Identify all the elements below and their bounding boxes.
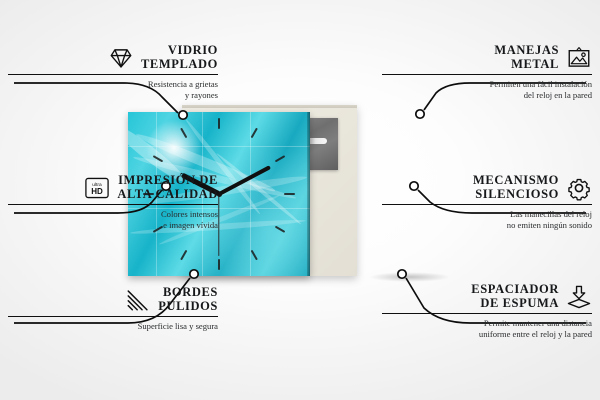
- clock-side-edge: [307, 112, 310, 276]
- feature-title-line1: MECANISMO: [473, 173, 559, 187]
- divider: [382, 204, 592, 205]
- feature-title-line2: SILENCIOSO: [475, 187, 559, 201]
- gear-icon: [566, 175, 592, 201]
- panel-top-edge: [182, 105, 357, 108]
- feature-desc-line1: Las manecillas del reloj: [382, 209, 592, 220]
- arrow-into-layer-icon: [566, 284, 592, 310]
- feature-title-line1: MANEJAS: [494, 43, 559, 57]
- feature-title-line1: ESPACIADOR: [471, 282, 559, 296]
- divider: [8, 204, 218, 205]
- feature-desc-line2: e imagen vívida: [8, 220, 218, 231]
- feature-title-line2: DE ESPUMA: [480, 296, 559, 310]
- feature-impresion-alta-calidad: ultra HD IMPRESIÓN DE ALTA CALIDAD Color…: [8, 174, 218, 231]
- diamond-icon: [108, 45, 134, 71]
- feature-title-line2: PULIDOS: [158, 299, 218, 313]
- polished-edges-icon: [125, 287, 151, 313]
- feature-desc-line1: Colores intensos: [8, 209, 218, 220]
- feature-espaciador-espuma: ESPACIADOR DE ESPUMA Permite mantener un…: [382, 283, 592, 340]
- ultra-hd-icon: ultra HD: [84, 175, 110, 201]
- feature-mecanismo-silencioso: MECANISMO SILENCIOSO Las manecillas del …: [382, 174, 592, 231]
- feature-bordes-pulidos: BORDES PULIDOS Superficie lisa y segura: [8, 286, 218, 332]
- feature-title-line2: ALTA CALIDAD: [117, 187, 218, 201]
- feature-desc-line1: Permite mantener una distancia: [382, 318, 592, 329]
- feature-title-line2: METAL: [511, 57, 559, 71]
- feature-manejas-metal: MANEJAS METAL Permiten una fácil instala…: [382, 44, 592, 101]
- promo-banner: VIDRIO TEMPLADO Resistencia a grietas y …: [0, 0, 600, 400]
- feature-desc-line2: uniforme entre el reloj y la pared: [382, 329, 592, 340]
- feature-desc-line1: Permiten una fácil instalación: [382, 79, 592, 90]
- feature-title-line2: TEMPLADO: [141, 57, 218, 71]
- divider: [382, 313, 592, 314]
- feature-desc-line1: Resistencia a grietas: [8, 79, 218, 90]
- feature-desc-line1: Superficie lisa y segura: [8, 321, 218, 332]
- divider: [382, 74, 592, 75]
- divider: [8, 74, 218, 75]
- feature-title-line1: IMPRESIÓN DE: [118, 173, 218, 187]
- svg-text:HD: HD: [92, 187, 104, 196]
- feature-vidrio-templado: VIDRIO TEMPLADO Resistencia a grietas y …: [8, 44, 218, 101]
- feature-desc-line2: y rayones: [8, 90, 218, 101]
- feature-desc-line2: del reloj en la pared: [382, 90, 592, 101]
- feature-title-line1: BORDES: [163, 285, 218, 299]
- divider: [8, 316, 218, 317]
- feature-desc-line2: no emiten ningún sonido: [382, 220, 592, 231]
- feature-title-line1: VIDRIO: [168, 43, 218, 57]
- picture-frame-hanger-icon: [566, 45, 592, 71]
